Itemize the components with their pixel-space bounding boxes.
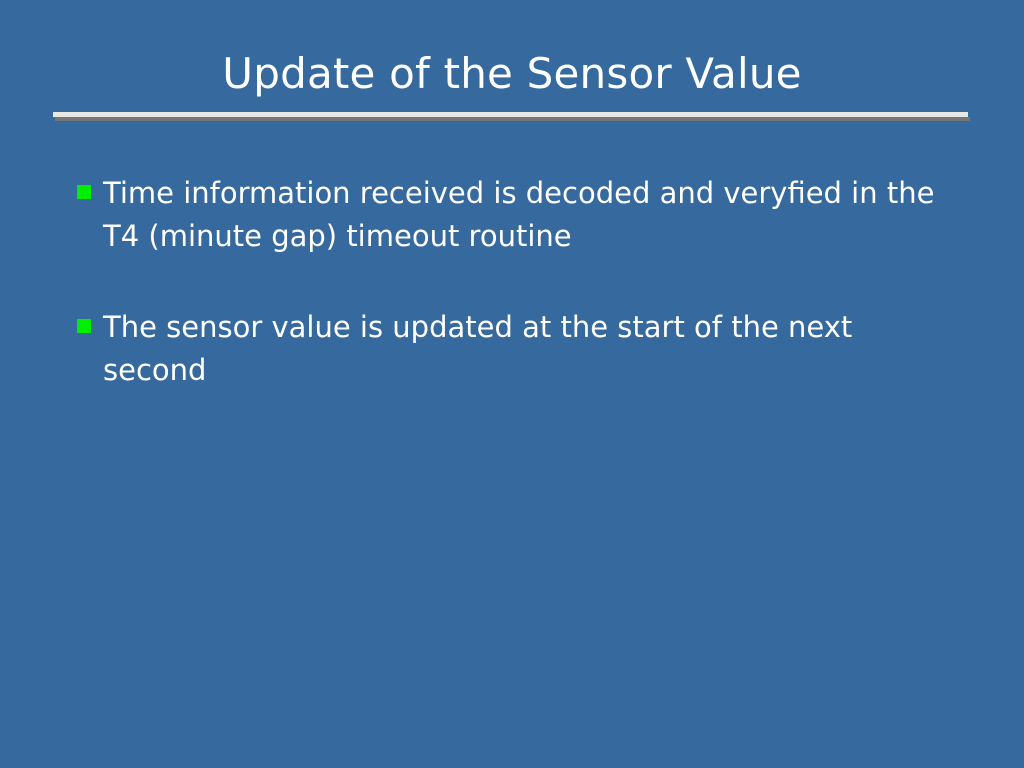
bullet-item-label: The sensor value is updated at the start… xyxy=(103,306,948,392)
page-title: Update of the Sensor Value xyxy=(0,48,1024,100)
divider-shadow-line xyxy=(55,117,970,121)
green-square-bullet-icon xyxy=(77,319,91,333)
title-divider-rule xyxy=(53,112,968,122)
list-item: Time information received is decoded and… xyxy=(74,172,954,258)
bullet-item-label: Time information received is decoded and… xyxy=(103,172,948,258)
presentation-slide: Update of the Sensor Value Time informat… xyxy=(0,0,1024,768)
green-square-bullet-icon xyxy=(77,185,91,199)
list-item: The sensor value is updated at the start… xyxy=(74,306,954,392)
slide-body-content: Time information received is decoded and… xyxy=(74,172,954,392)
slide-title-block: Update of the Sensor Value xyxy=(0,48,1024,100)
